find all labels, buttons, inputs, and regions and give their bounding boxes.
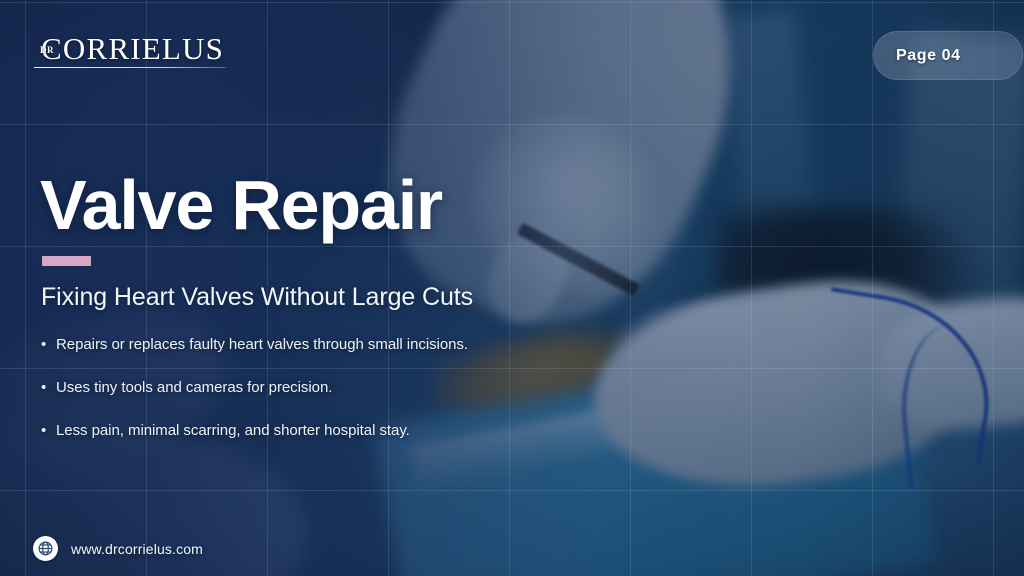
bullet-marker-icon: • (41, 377, 56, 398)
logo-wordmark: CORRIELUS (41, 33, 224, 64)
page-number-badge: Page 04 (873, 31, 1023, 80)
list-item-text: Repairs or replaces faulty heart valves … (56, 334, 468, 355)
bullet-list: • Repairs or replaces faulty heart valve… (41, 334, 561, 463)
list-item-text: Uses tiny tools and cameras for precisio… (56, 377, 332, 398)
list-item-text: Less pain, minimal scarring, and shorter… (56, 420, 410, 441)
presentation-slide: DR CORRIELUS Page 04 Valve Repair Fixing… (0, 0, 1024, 576)
page-title: Valve Repair (40, 168, 442, 242)
bullet-marker-icon: • (41, 420, 56, 441)
website-url[interactable]: www.drcorrielus.com (71, 541, 203, 557)
bullet-marker-icon: • (41, 334, 56, 355)
logo-underline-rule (34, 67, 226, 68)
accent-divider-bar (42, 256, 91, 266)
logo-prefix: DR (40, 45, 54, 55)
page-subtitle: Fixing Heart Valves Without Large Cuts (41, 282, 473, 312)
page-number-label: Page 04 (896, 47, 961, 65)
list-item: • Uses tiny tools and cameras for precis… (41, 377, 561, 398)
brand-logo: DR CORRIELUS (34, 30, 226, 68)
footer: www.drcorrielus.com (33, 536, 203, 561)
list-item: • Less pain, minimal scarring, and short… (41, 420, 561, 441)
list-item: • Repairs or replaces faulty heart valve… (41, 334, 561, 355)
globe-icon (33, 536, 58, 561)
